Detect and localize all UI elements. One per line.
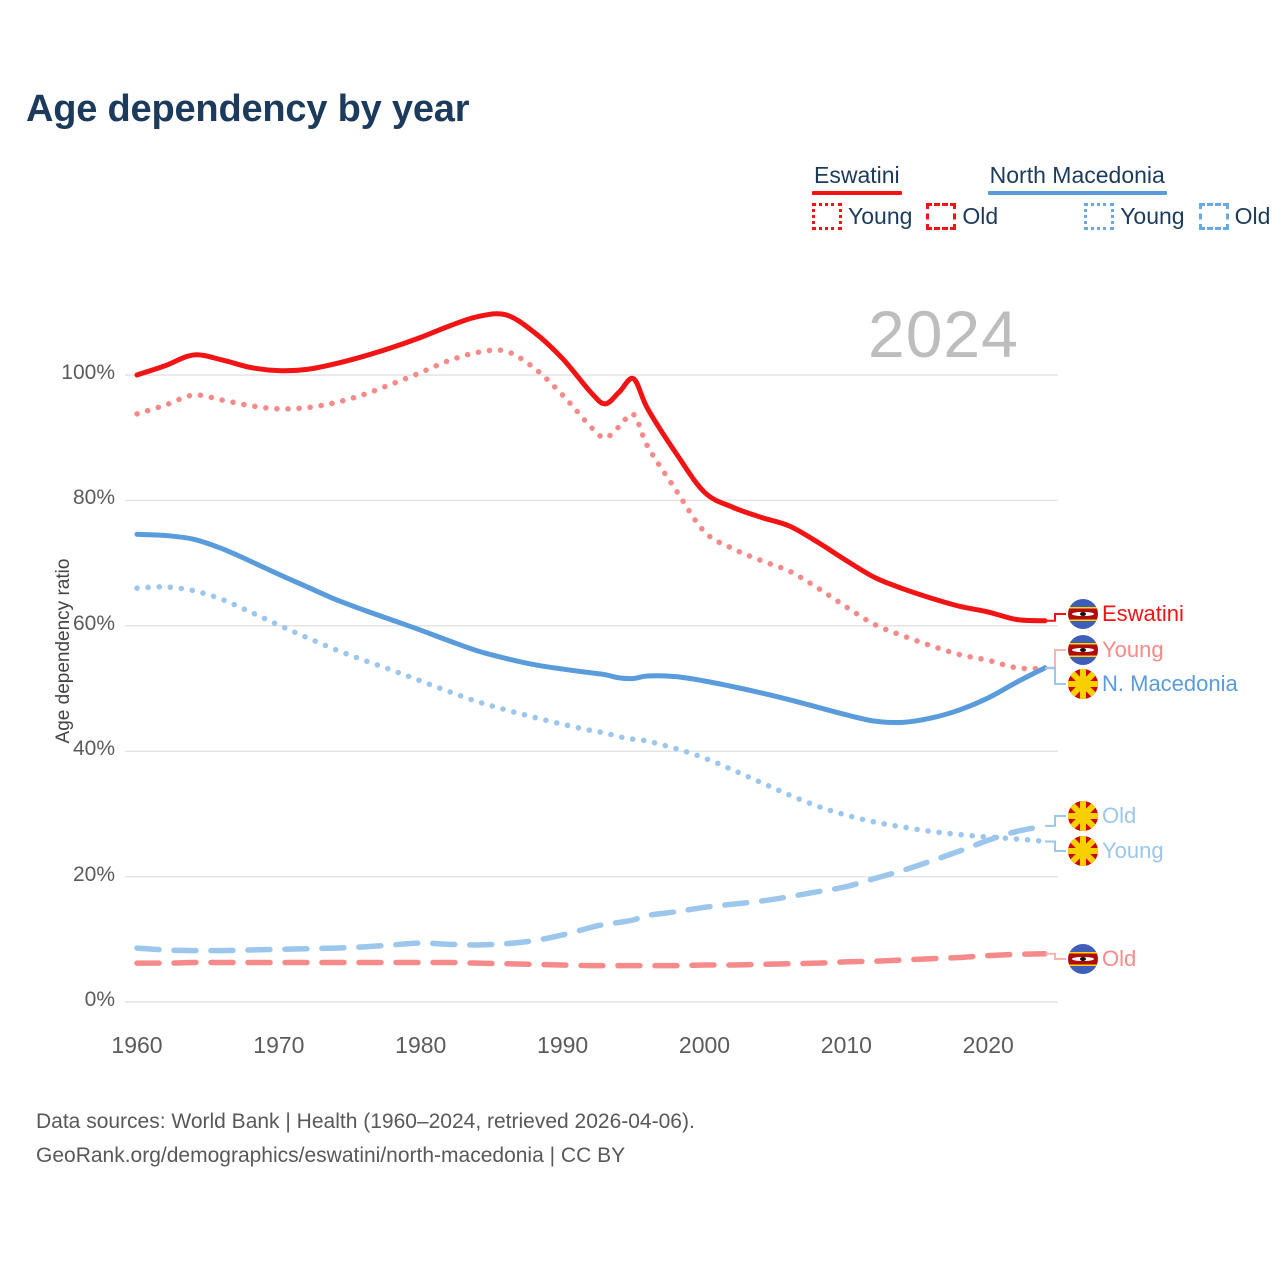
label-leader-line [1045,668,1066,684]
chart-page: Age dependency by year Eswatini North Ma… [0,0,1280,1280]
y-axis-tick-label: 0% [25,988,115,1012]
series-end-label[interactable]: Old [1068,944,1136,974]
x-axis-tick-label: 2000 [660,1032,750,1059]
series-line-north-macedonia-young[interactable] [137,587,1045,842]
series-line-north-macedonia-old[interactable] [137,826,1045,951]
eswatini-flag-icon [1068,599,1098,629]
series-end-label[interactable]: Young [1068,836,1164,866]
series-end-label-text: Old [1102,803,1136,829]
y-axis-tick-label: 20% [25,863,115,887]
label-leader-line [1045,614,1066,621]
eswatini-flag-icon [1068,944,1098,974]
x-axis-tick-label: 1970 [234,1032,324,1059]
x-axis-tick-label: 1980 [376,1032,466,1059]
north-macedonia-flag-icon [1068,836,1098,866]
series-end-label-text: Young [1102,637,1164,663]
y-axis-tick-label: 60% [25,612,115,636]
north-macedonia-flag-icon [1068,669,1098,699]
label-leader-line [1045,816,1066,826]
y-axis-title: Age dependency ratio [53,551,75,751]
label-leader-line [1045,650,1066,668]
x-axis-tick-label: 1960 [92,1032,182,1059]
series-line-eswatini-total[interactable] [137,314,1045,621]
series-end-label-text: Eswatini [1102,601,1184,627]
y-axis-tick-label: 80% [25,486,115,510]
series-end-label-text: Young [1102,838,1164,864]
series-line-eswatini-old[interactable] [137,954,1045,966]
series-line-north-macedonia-total[interactable] [137,534,1045,722]
x-axis-tick-label: 2020 [943,1032,1033,1059]
series-end-label[interactable]: Old [1068,801,1136,831]
series-end-label-text: Old [1102,946,1136,972]
north-macedonia-flag-icon [1068,801,1098,831]
footer-attribution: GeoRank.org/demographics/eswatini/north-… [36,1139,695,1173]
series-end-label-text: N. Macedonia [1102,671,1238,697]
y-axis-tick-label: 40% [25,737,115,761]
x-axis-tick-label: 1990 [518,1032,608,1059]
footer: Data sources: World Bank | Health (1960–… [36,1105,695,1173]
eswatini-flag-icon [1068,635,1098,665]
label-leader-line [1045,954,1066,959]
x-axis-tick-label: 2010 [801,1032,891,1059]
y-axis-tick-label: 100% [25,361,115,385]
footer-data-sources: Data sources: World Bank | Health (1960–… [36,1105,695,1139]
series-end-label[interactable]: N. Macedonia [1068,669,1238,699]
series-end-label[interactable]: Eswatini [1068,599,1184,629]
series-end-label[interactable]: Young [1068,635,1164,665]
label-leader-line [1045,841,1066,851]
